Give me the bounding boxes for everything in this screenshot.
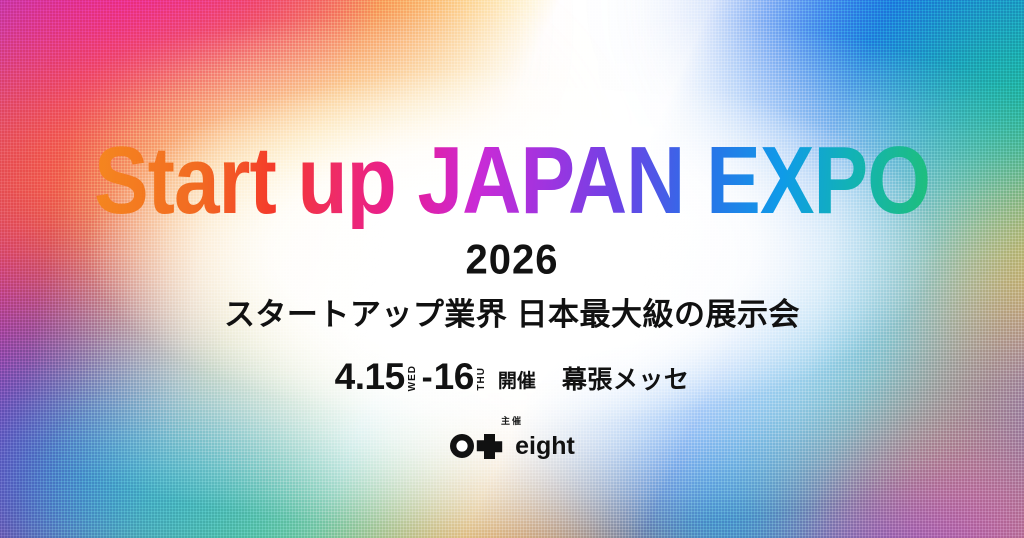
organizer-brand-name: eight [515, 434, 575, 459]
date-start-dow: WED [408, 365, 418, 391]
organizer-label: 主催 [501, 417, 523, 426]
event-venue: 幕張メッセ [562, 368, 690, 393]
date-end-dow: THU [477, 367, 487, 391]
date-end-day: 16 [434, 358, 474, 395]
event-title-wordmark: Start up JAPAN EXPO [94, 134, 930, 229]
poster-content: Start up JAPAN EXPO 2026 スタートアップ業界 日本最大級… [0, 0, 1024, 538]
date-start-day: 4.15 [335, 358, 405, 395]
date-suffix-kaisai: 開催 [498, 372, 536, 391]
event-tagline: スタートアップ業界 日本最大級の展示会 [224, 299, 800, 330]
event-dateline: 4.15 WED - 16 THU 開催 幕張メッセ [335, 358, 690, 395]
organizer-brand: eight [449, 433, 575, 459]
organizer-block: 主催 eight [449, 417, 575, 459]
date-range-separator: - [422, 360, 433, 393]
eight-logo-mark-icon [449, 433, 505, 459]
event-year: 2026 [466, 239, 559, 281]
startup-japan-expo-poster: Start up JAPAN EXPO 2026 スタートアップ業界 日本最大級… [0, 0, 1024, 538]
